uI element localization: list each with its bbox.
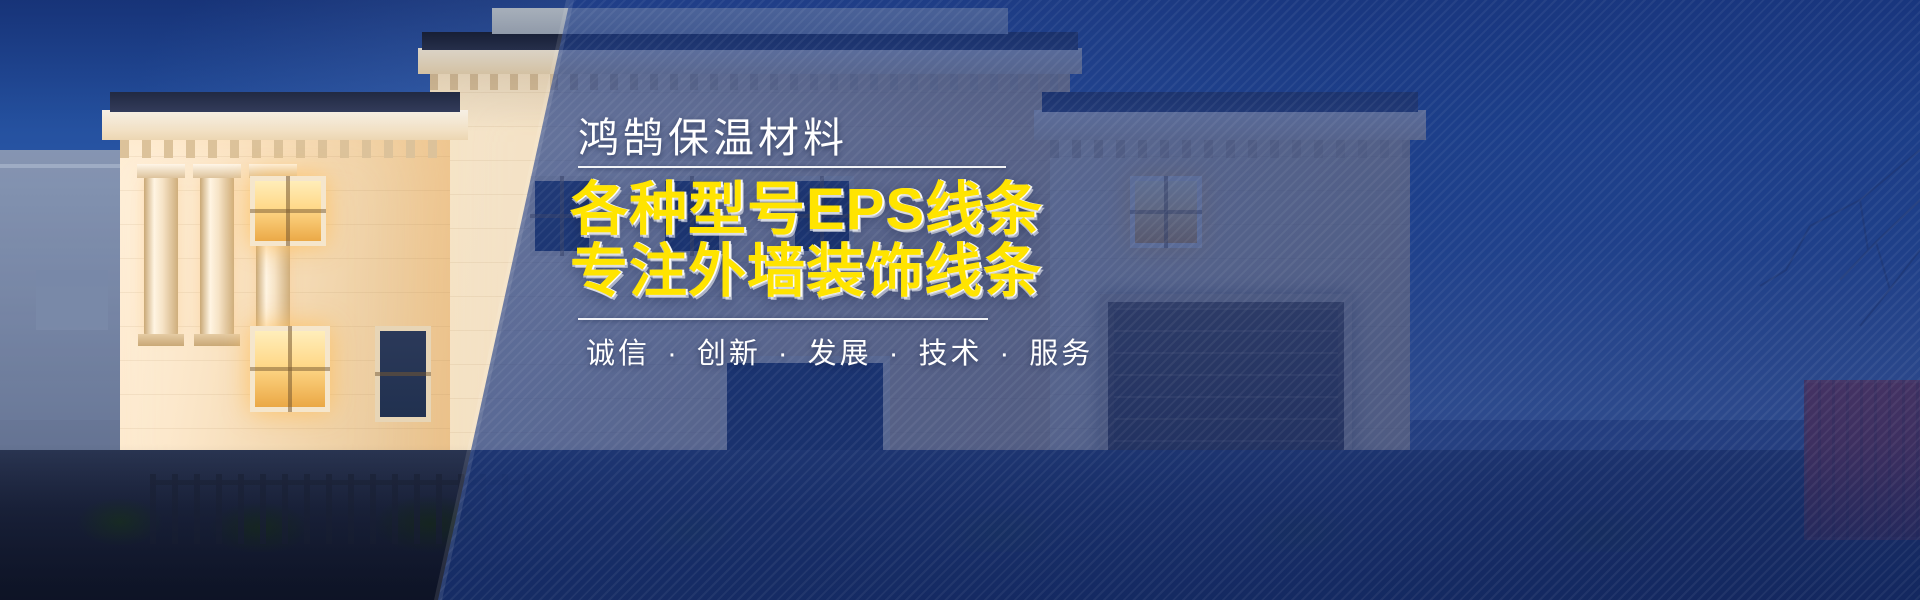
company-name: 鸿鹄保温材料 bbox=[578, 104, 848, 164]
tagline-separator-1: · bbox=[772, 338, 797, 370]
tagline-item-4: 服务 bbox=[1029, 338, 1093, 370]
tagline-item-3: 技术 bbox=[918, 338, 982, 370]
headline-line-1: 各种型号EPS线条 bbox=[570, 182, 1090, 238]
hero-banner: 鸿鹄保温材料 各种型号EPS线条 专注外墙装饰线条 诚信 · 创新 · 发展 ·… bbox=[0, 0, 1920, 600]
tagline-item-2: 发展 bbox=[808, 338, 872, 370]
tagline-separator-2: · bbox=[883, 338, 908, 370]
divider-top bbox=[578, 166, 1006, 168]
headline-group: 各种型号EPS线条 专注外墙装饰线条 bbox=[570, 182, 1090, 300]
tagline-item-1: 创新 bbox=[697, 338, 761, 370]
tagline-separator-3: · bbox=[994, 338, 1019, 370]
tagline-separator-0: · bbox=[661, 338, 686, 370]
divider-bottom bbox=[578, 318, 988, 320]
headline-line-2: 专注外墙装饰线条 bbox=[570, 244, 1090, 300]
banner-text-block: 鸿鹄保温材料 各种型号EPS线条 专注外墙装饰线条 诚信 · 创新 · 发展 ·… bbox=[556, 0, 1556, 600]
tagline-item-0: 诚信 bbox=[586, 338, 650, 370]
tagline: 诚信 · 创新 · 发展 · 技术 · 服务 bbox=[586, 330, 1093, 372]
